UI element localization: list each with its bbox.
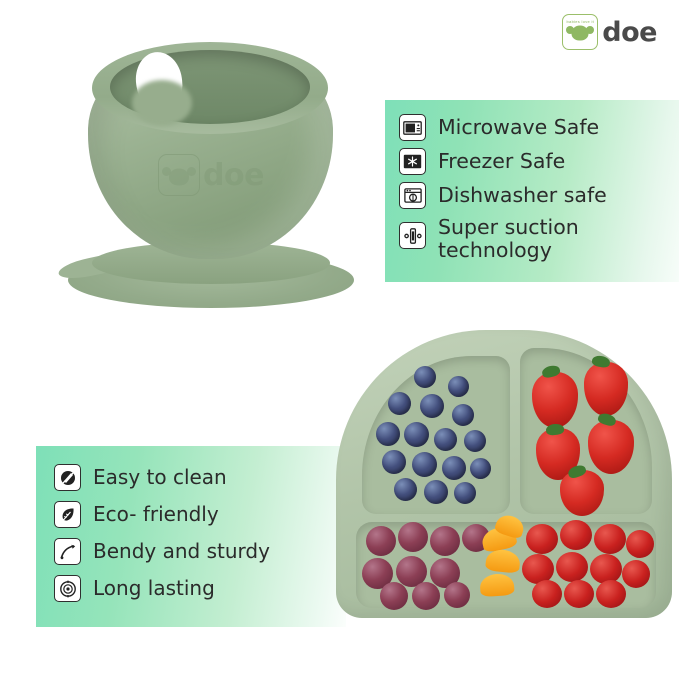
feature-microwave-safe: Microwave Safe — [399, 114, 679, 141]
blueberry — [470, 458, 491, 479]
feature-bendy-and-sturdy: Bendy and sturdy — [54, 538, 346, 565]
koala-face-icon — [572, 26, 589, 41]
feature-freezer-safe: Freezer Safe — [399, 148, 679, 175]
blueberry — [376, 422, 400, 446]
feature-label: Long lasting — [93, 577, 215, 599]
eco-leaf-icon — [54, 501, 81, 528]
blueberry — [404, 422, 429, 447]
divided-plate-photo — [336, 330, 672, 630]
blueberry — [464, 430, 486, 452]
koala-logo-icon: babies love it — [562, 14, 598, 50]
raspberry — [564, 580, 594, 608]
bendy-sturdy-icon — [54, 538, 81, 565]
raspberry — [594, 524, 626, 554]
blueberry — [412, 452, 437, 477]
bowl-emboss-text: doe — [203, 158, 264, 193]
feature-dishwasher-safe: Dishwasher safe — [399, 182, 679, 209]
grape — [444, 582, 470, 608]
easy-to-clean-icon — [54, 464, 81, 491]
benefit-features-panel: Easy to clean Eco- friendly — [36, 446, 346, 627]
blueberry — [434, 428, 457, 451]
koala-face-icon — [169, 169, 189, 186]
brand-logo: babies love it doe — [562, 14, 657, 50]
product-infographic: babies love it doe doe — [0, 0, 679, 679]
blueberry — [454, 482, 476, 504]
raspberry — [526, 524, 558, 554]
feature-label: Easy to clean — [93, 466, 227, 488]
koala-logo-icon — [158, 154, 200, 196]
blueberry — [388, 392, 411, 415]
freezer-snowflake-icon — [399, 148, 426, 175]
blueberry — [442, 456, 466, 480]
feature-label: Super suction technology — [438, 216, 579, 262]
brand-arc-text: babies love it — [567, 19, 595, 24]
blueberry — [382, 450, 406, 474]
feature-eco-friendly: Eco- friendly — [54, 501, 346, 528]
feature-super-suction: Super suction technology — [399, 216, 679, 262]
grape — [398, 522, 428, 552]
long-lasting-icon — [54, 575, 81, 602]
blueberry — [420, 394, 444, 418]
raspberry — [532, 580, 562, 608]
care-features-panel: Microwave Safe Freezer Safe — [385, 100, 679, 282]
feature-label: Eco- friendly — [93, 503, 219, 525]
bowl-scoop-shadow — [132, 80, 192, 126]
feature-label: Freezer Safe — [438, 150, 565, 173]
blueberry — [424, 480, 448, 504]
raspberry — [590, 554, 622, 584]
feature-long-lasting: Long lasting — [54, 575, 346, 602]
suction-bowl-photo: doe — [40, 36, 380, 286]
grape — [366, 526, 396, 556]
grape — [412, 582, 440, 610]
grape — [380, 582, 408, 610]
feature-label: Microwave Safe — [438, 116, 599, 139]
blueberry — [414, 366, 436, 388]
feature-easy-to-clean: Easy to clean — [54, 464, 346, 491]
raspberry — [556, 552, 588, 582]
raspberry — [560, 520, 592, 550]
dishwasher-icon — [399, 182, 426, 209]
raspberry — [596, 580, 626, 608]
grape — [430, 526, 460, 556]
blueberry — [448, 376, 469, 397]
feature-label: Dishwasher safe — [438, 184, 607, 207]
suction-technology-icon — [399, 222, 426, 249]
feature-label: Bendy and sturdy — [93, 540, 270, 562]
blueberry — [394, 478, 417, 501]
raspberry — [622, 560, 650, 588]
bowl-embossed-logo: doe — [158, 154, 264, 196]
raspberry — [626, 530, 654, 558]
blueberry — [452, 404, 474, 426]
brand-name: doe — [602, 19, 657, 46]
microwave-icon — [399, 114, 426, 141]
